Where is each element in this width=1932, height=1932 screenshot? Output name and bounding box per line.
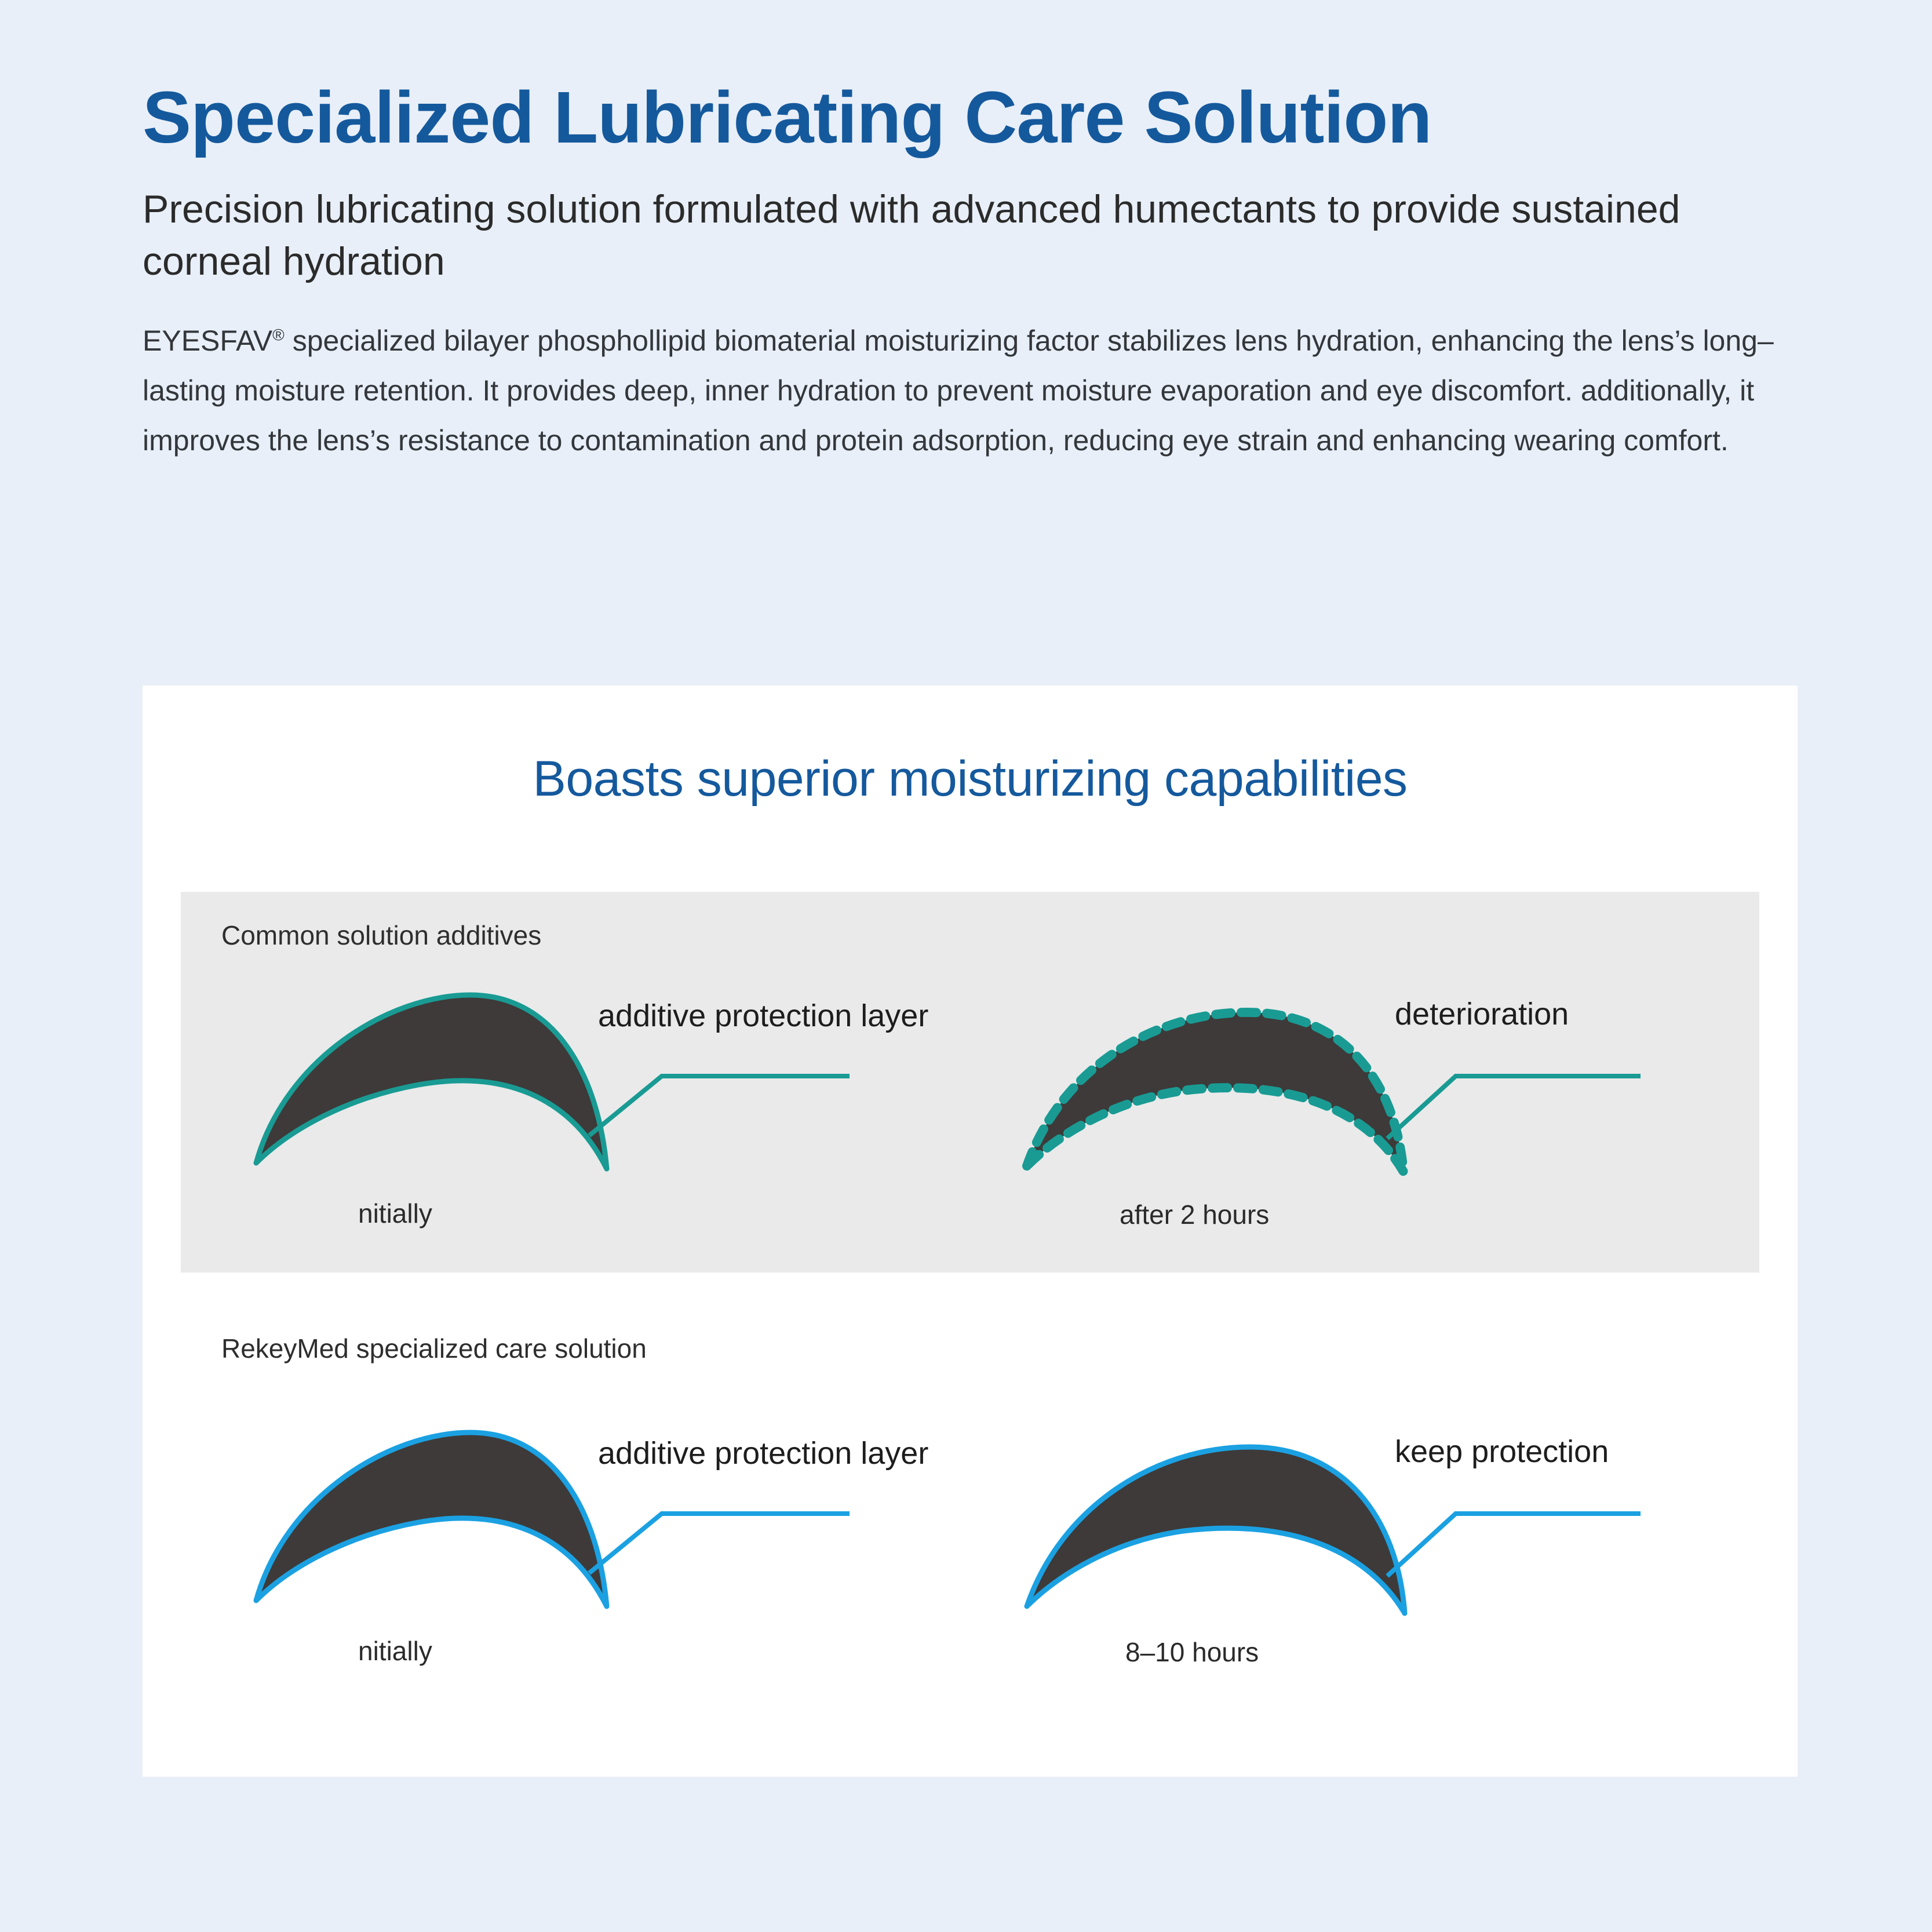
lens-crescent-shape (256, 995, 607, 1169)
lens-caption: nitially (358, 1635, 432, 1667)
callout-label: additive protection layer (598, 998, 928, 1034)
header-section: Specialized Lubricating Care Solution Pr… (143, 76, 1800, 465)
panel-rekeymed-care-solution: RekeyMed specialized care solution addit… (181, 1305, 1759, 1711)
card-heading: Boasts superior moisturizing capabilitie… (143, 750, 1798, 808)
page-body-paragraph: EYESFAV® specialized bilayer phosphollip… (143, 316, 1782, 465)
callout-leader-line (1389, 1076, 1638, 1137)
lens-diagram-common-initially: additive protection layer nitially (245, 960, 986, 1262)
infographic-page: Specialized Lubricating Care Solution Pr… (0, 0, 1932, 1932)
callout-label: keep protection (1395, 1434, 1609, 1470)
panel-label: RekeyMed specialized care solution (221, 1333, 647, 1364)
brand-name: EYESFAV (143, 325, 272, 357)
lens-caption: nitially (358, 1198, 432, 1229)
lens-caption: 8–10 hours (1125, 1636, 1259, 1668)
callout-label: deterioration (1395, 996, 1569, 1032)
registered-trademark-icon: ® (272, 326, 285, 344)
lens-diagram-rekeymed-initially: additive protection layer nitially (245, 1398, 986, 1699)
lens-diagram-common-after-2-hours: deterioration after 2 hours (1015, 960, 1740, 1262)
page-subtitle: Precision lubricating solution formulate… (143, 184, 1777, 288)
callout-leader-line (1389, 1514, 1638, 1574)
callout-leader-line (591, 1076, 847, 1134)
callout-leader-line (591, 1514, 847, 1572)
lens-caption: after 2 hours (1120, 1199, 1269, 1230)
lens-crescent-shape-deteriorated (1027, 1012, 1404, 1172)
panel-common-solution-additives: Common solution additives additive prote… (181, 892, 1759, 1273)
page-title: Specialized Lubricating Care Solution (143, 76, 1800, 158)
body-text: specialized bilayer phosphollipid biomat… (143, 325, 1774, 457)
lens-illustration (1015, 1398, 1740, 1699)
panel-label: Common solution additives (221, 920, 541, 951)
lens-crescent-shape (1027, 1447, 1405, 1613)
callout-label: additive protection layer (598, 1435, 928, 1471)
lens-crescent-shape (256, 1432, 607, 1606)
lens-diagram-rekeymed-8-10-hours: keep protection 8–10 hours (1015, 1398, 1740, 1699)
comparison-card: Boasts superior moisturizing capabilitie… (143, 686, 1798, 1777)
